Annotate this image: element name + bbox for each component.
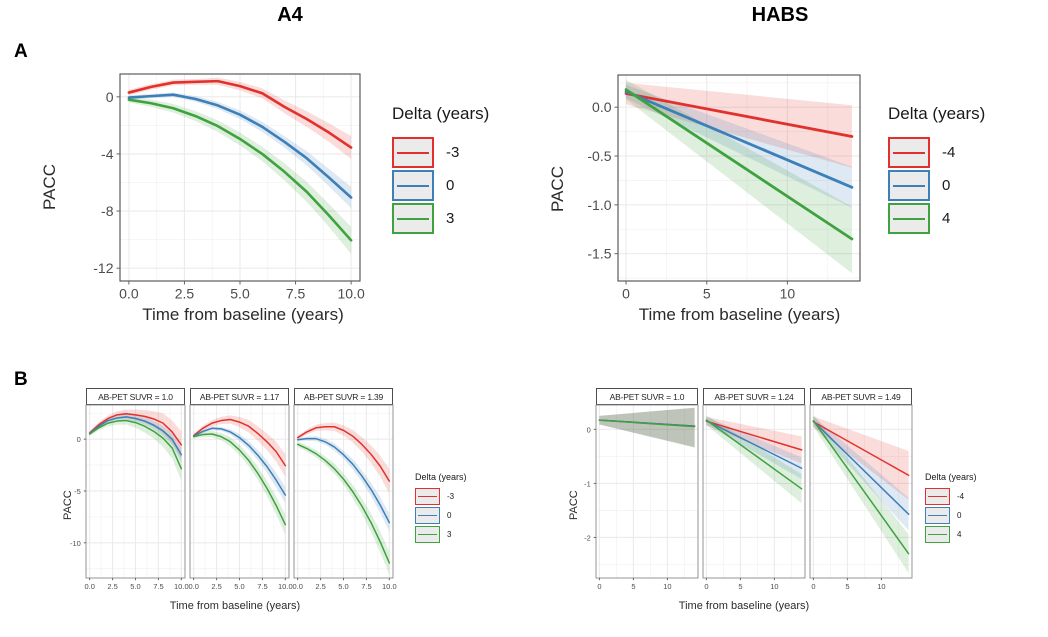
y-tick-label: 0 <box>77 435 81 444</box>
y-tick-label: 0 <box>587 425 591 434</box>
x-tick-label: 7.5 <box>257 582 267 591</box>
x-tick-label: 7.5 <box>153 582 163 591</box>
x-tick-label: 10 <box>663 582 671 591</box>
x-tick-label: 5.0 <box>130 582 140 591</box>
x-tick-label: 0.0 <box>188 582 198 591</box>
x-tick-label: 0 <box>811 582 815 591</box>
x-tick-label: 10 <box>780 286 796 302</box>
x-tick-label: 10 <box>877 582 885 591</box>
y-tick-label: -2 <box>584 533 591 542</box>
x-tick-label: 10.0 <box>382 582 397 591</box>
y-tick-label: -4 <box>101 146 114 162</box>
x-tick-label: 0 <box>704 582 708 591</box>
x-tick-label: 5 <box>703 286 711 302</box>
x-tick-label: 10.0 <box>278 582 293 591</box>
y-tick-label: -5 <box>74 487 81 496</box>
x-tick-label: 0 <box>622 286 630 302</box>
x-tick-label: 0.0 <box>84 582 94 591</box>
x-tick-label: 5 <box>845 582 849 591</box>
y-tick-label: -0.5 <box>587 148 611 164</box>
x-tick-label: 2.5 <box>211 582 221 591</box>
x-tick-label: 10.0 <box>174 582 189 591</box>
x-tick-label: 0.0 <box>119 286 139 302</box>
x-tick-label: 5.0 <box>338 582 348 591</box>
x-tick-label: 2.5 <box>315 582 325 591</box>
x-tick-label: 7.5 <box>361 582 371 591</box>
x-tick-label: 5.0 <box>230 286 250 302</box>
figure-canvas: 0.02.55.07.510.00-4-8-1205100.0-0.5-1.0-… <box>0 0 1048 637</box>
x-tick-label: 10 <box>770 582 778 591</box>
y-tick-label: 0 <box>106 89 114 105</box>
x-tick-label: 2.5 <box>175 286 195 302</box>
x-tick-label: 0 <box>597 582 601 591</box>
y-tick-label: -1.0 <box>587 197 611 213</box>
x-tick-label: 2.5 <box>107 582 117 591</box>
y-tick-label: -12 <box>93 260 113 276</box>
x-tick-label: 7.5 <box>286 286 306 302</box>
y-tick-label: 0.0 <box>592 99 612 115</box>
x-tick-label: 5 <box>738 582 742 591</box>
x-tick-label: 5.0 <box>234 582 244 591</box>
y-tick-label: -10 <box>70 539 81 548</box>
x-tick-label: 10.0 <box>337 286 364 302</box>
y-tick-label: -1.5 <box>587 246 611 262</box>
y-tick-label: -1 <box>584 479 591 488</box>
y-tick-label: -8 <box>101 203 114 219</box>
x-tick-label: 0.0 <box>292 582 302 591</box>
x-tick-label: 5 <box>631 582 635 591</box>
